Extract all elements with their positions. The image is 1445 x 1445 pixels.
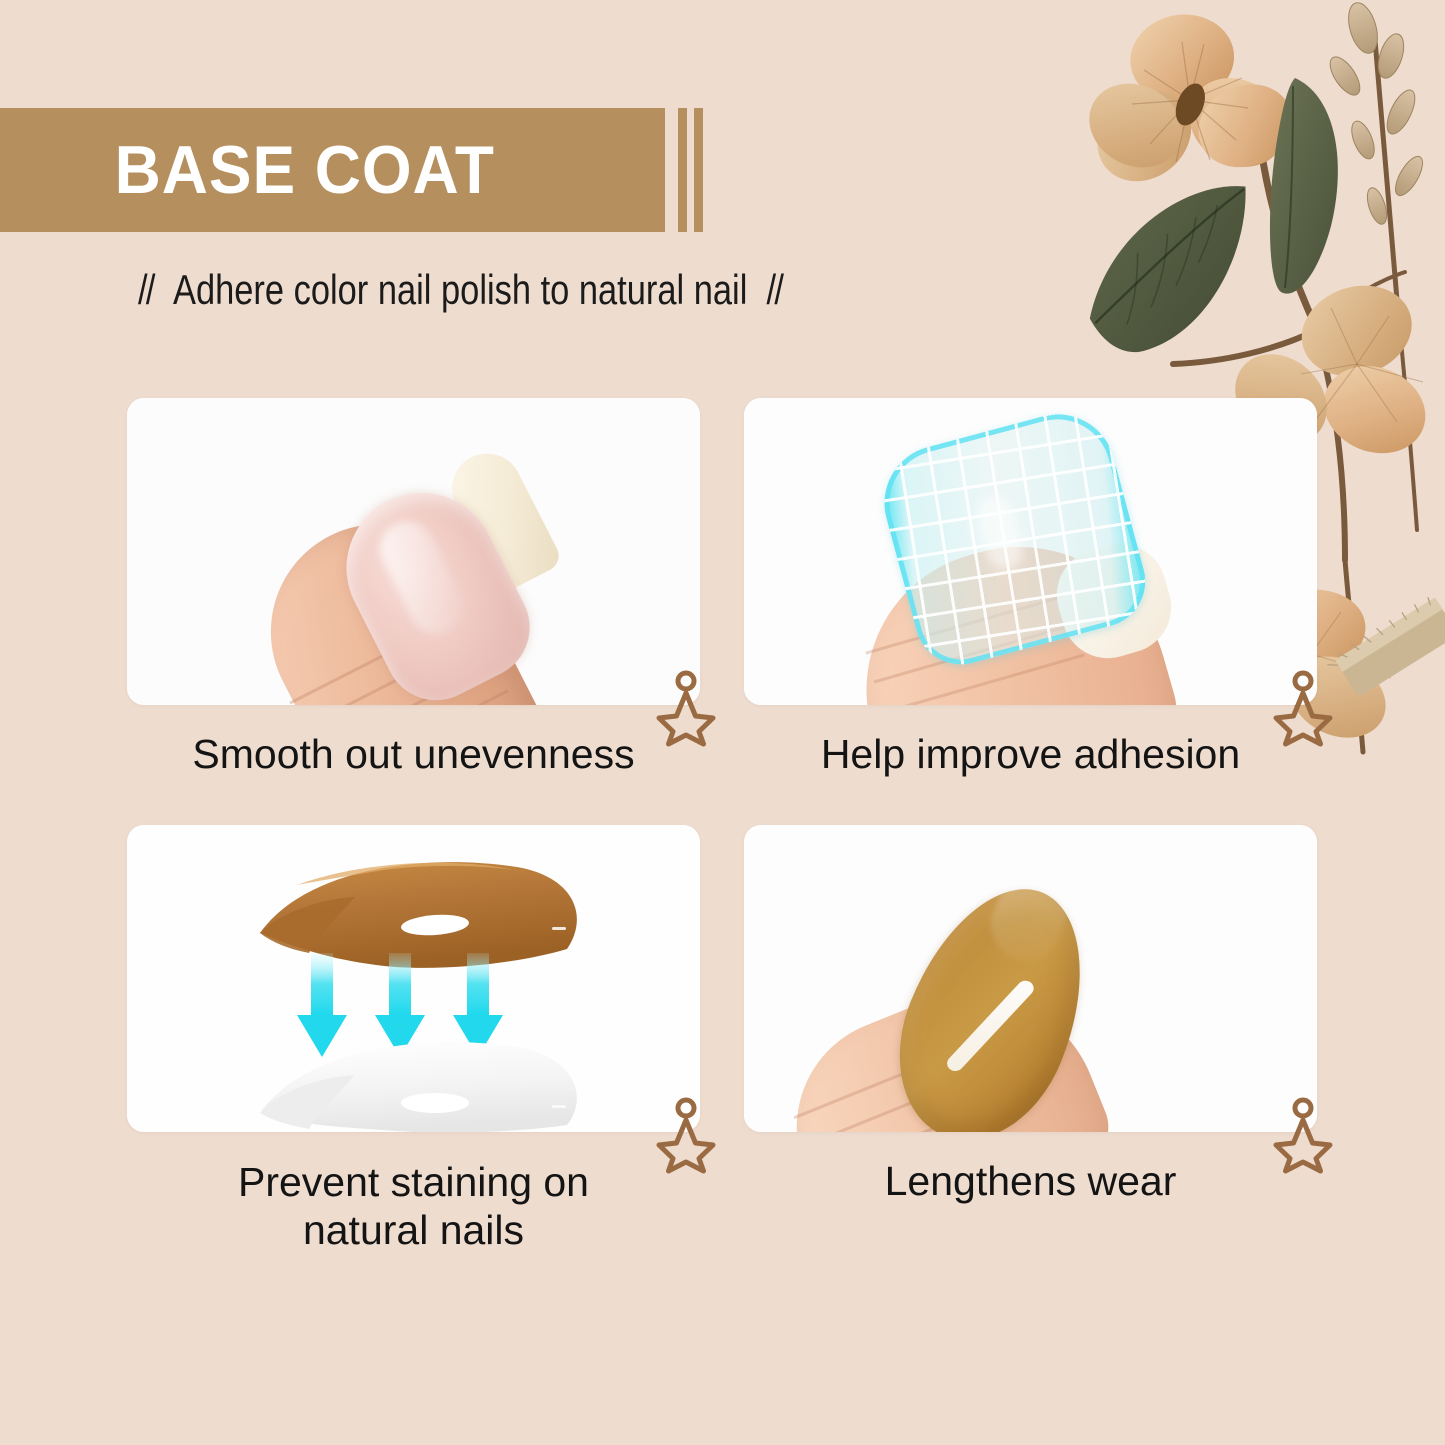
feature-caption-line: natural nails [127,1206,700,1254]
feature-card-lengthens-wear: Lengthens wear [744,825,1317,1255]
caramel-almond-nail-photo [744,825,1317,1132]
star-charm-icon [656,669,716,747]
subtitle-open-marks: // [138,266,154,313]
subtitle-close-marks: // [767,266,783,313]
header-banner: BASE COAT [0,108,700,232]
feature-caption: Lengthens wear [744,1158,1317,1205]
feature-caption: Prevent staining on natural nails [127,1158,700,1255]
banner-accent-bar-2 [694,108,703,232]
feature-image-card [127,398,700,705]
feature-row-2: Prevent staining on natural nails [127,825,1317,1255]
bare-natural-nail-photo [127,398,700,705]
star-charm-icon [656,1096,716,1174]
feature-image-card [744,825,1317,1132]
page-title: BASE COAT [0,136,495,204]
feature-card-smooth-out-unevenness: Smooth out unevenness [127,398,700,778]
feature-caption-line: Prevent staining on [127,1158,700,1206]
subtitle-text: Adhere color nail polish to natural nail [173,266,747,313]
feature-caption-line: Lengthens wear [744,1158,1317,1205]
feature-caption-line: Help improve adhesion [744,731,1317,778]
polish-layer-over-base-layer-diagram [127,825,700,1132]
subtitle: // Adhere color nail polish to natural n… [138,266,782,314]
feature-image-card [744,398,1317,705]
banner-accent-bar-1 [678,108,687,232]
nail-with-cyan-adhesion-grid-photo [744,398,1317,705]
star-charm-icon [1273,1096,1333,1174]
star-charm-icon [1273,669,1333,747]
header-banner-bar: BASE COAT [0,108,665,232]
feature-grid: Smooth out unevenness [127,398,1317,1254]
feature-row-1: Smooth out unevenness [127,398,1317,778]
feature-card-help-improve-adhesion: Help improve adhesion [744,398,1317,778]
feature-caption: Help improve adhesion [744,731,1317,778]
feature-caption: Smooth out unevenness [127,731,700,778]
feature-card-prevent-staining: Prevent staining on natural nails [127,825,700,1255]
feature-caption-line: Smooth out unevenness [127,731,700,778]
feature-image-card [127,825,700,1132]
